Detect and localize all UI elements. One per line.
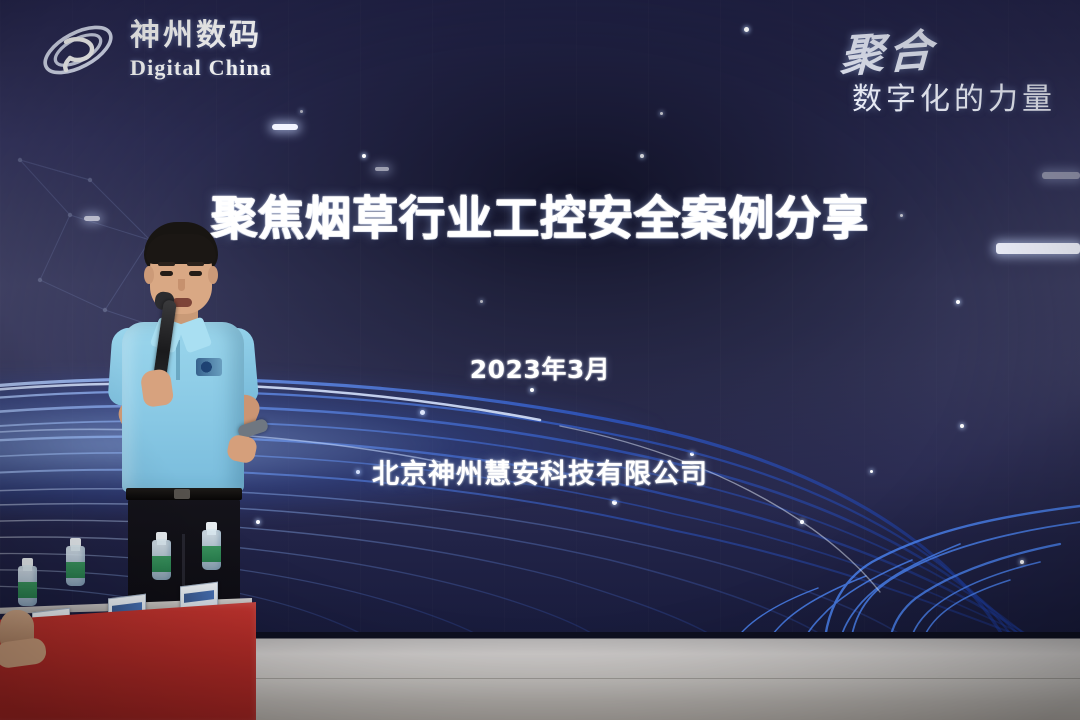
bottle-neck bbox=[157, 539, 166, 545]
speaker-eye-right bbox=[189, 271, 202, 276]
light-flare bbox=[272, 124, 298, 130]
bottle-body bbox=[66, 546, 85, 586]
speaker-eyebrow-right bbox=[187, 262, 204, 266]
brand-logo: 神州数码 Digital China bbox=[36, 18, 272, 82]
water-bottle bbox=[18, 566, 37, 606]
speaker-hair-front bbox=[146, 234, 216, 264]
brand-name-en: Digital China bbox=[130, 57, 272, 79]
speaker-ear-left bbox=[144, 266, 154, 284]
light-flare bbox=[375, 167, 389, 171]
bottle-label bbox=[18, 582, 37, 598]
bottle-label bbox=[152, 556, 171, 572]
particle-dot bbox=[660, 112, 663, 115]
particle-dot bbox=[362, 154, 366, 158]
brand-name-cn: 神州数码 bbox=[130, 21, 272, 51]
light-flare bbox=[1042, 172, 1080, 179]
slogan-brush-text: 聚合 bbox=[839, 14, 937, 85]
water-bottle bbox=[152, 540, 171, 580]
bottle-body bbox=[18, 566, 37, 606]
bottle-body bbox=[202, 530, 221, 570]
water-bottle bbox=[66, 546, 85, 586]
event-slogan: 聚合 数字化的力量 bbox=[840, 14, 1056, 118]
speaker-hand-left bbox=[140, 368, 175, 408]
belt-buckle bbox=[174, 489, 190, 499]
water-bottle bbox=[202, 530, 221, 570]
bottle-body bbox=[152, 540, 171, 580]
speaker-ear-right bbox=[208, 266, 218, 284]
particle-dot bbox=[956, 300, 960, 304]
bottle-label bbox=[66, 562, 85, 578]
bottle-neck bbox=[207, 529, 216, 535]
name-card-text-bar bbox=[184, 590, 214, 603]
shirt-chest-logo bbox=[196, 358, 222, 376]
particle-dot bbox=[480, 300, 483, 303]
stage-photo: 神州数码 Digital China 聚合 数字化的力量 聚焦烟草行业工控安全案… bbox=[0, 0, 1080, 720]
digital-china-swirl-icon bbox=[36, 18, 120, 82]
particle-dot bbox=[640, 154, 644, 158]
particle-dot bbox=[300, 110, 303, 113]
speaker-eye-left bbox=[160, 271, 173, 276]
bottle-neck bbox=[71, 545, 80, 551]
particle-dot bbox=[744, 27, 749, 32]
speaker-eyebrow-left bbox=[158, 262, 175, 266]
speaker-presenter bbox=[96, 222, 306, 642]
speaker-nose bbox=[178, 279, 185, 291]
bottle-label bbox=[202, 546, 221, 562]
speaker-polo-shirt bbox=[122, 322, 244, 492]
bottle-neck bbox=[23, 565, 32, 571]
